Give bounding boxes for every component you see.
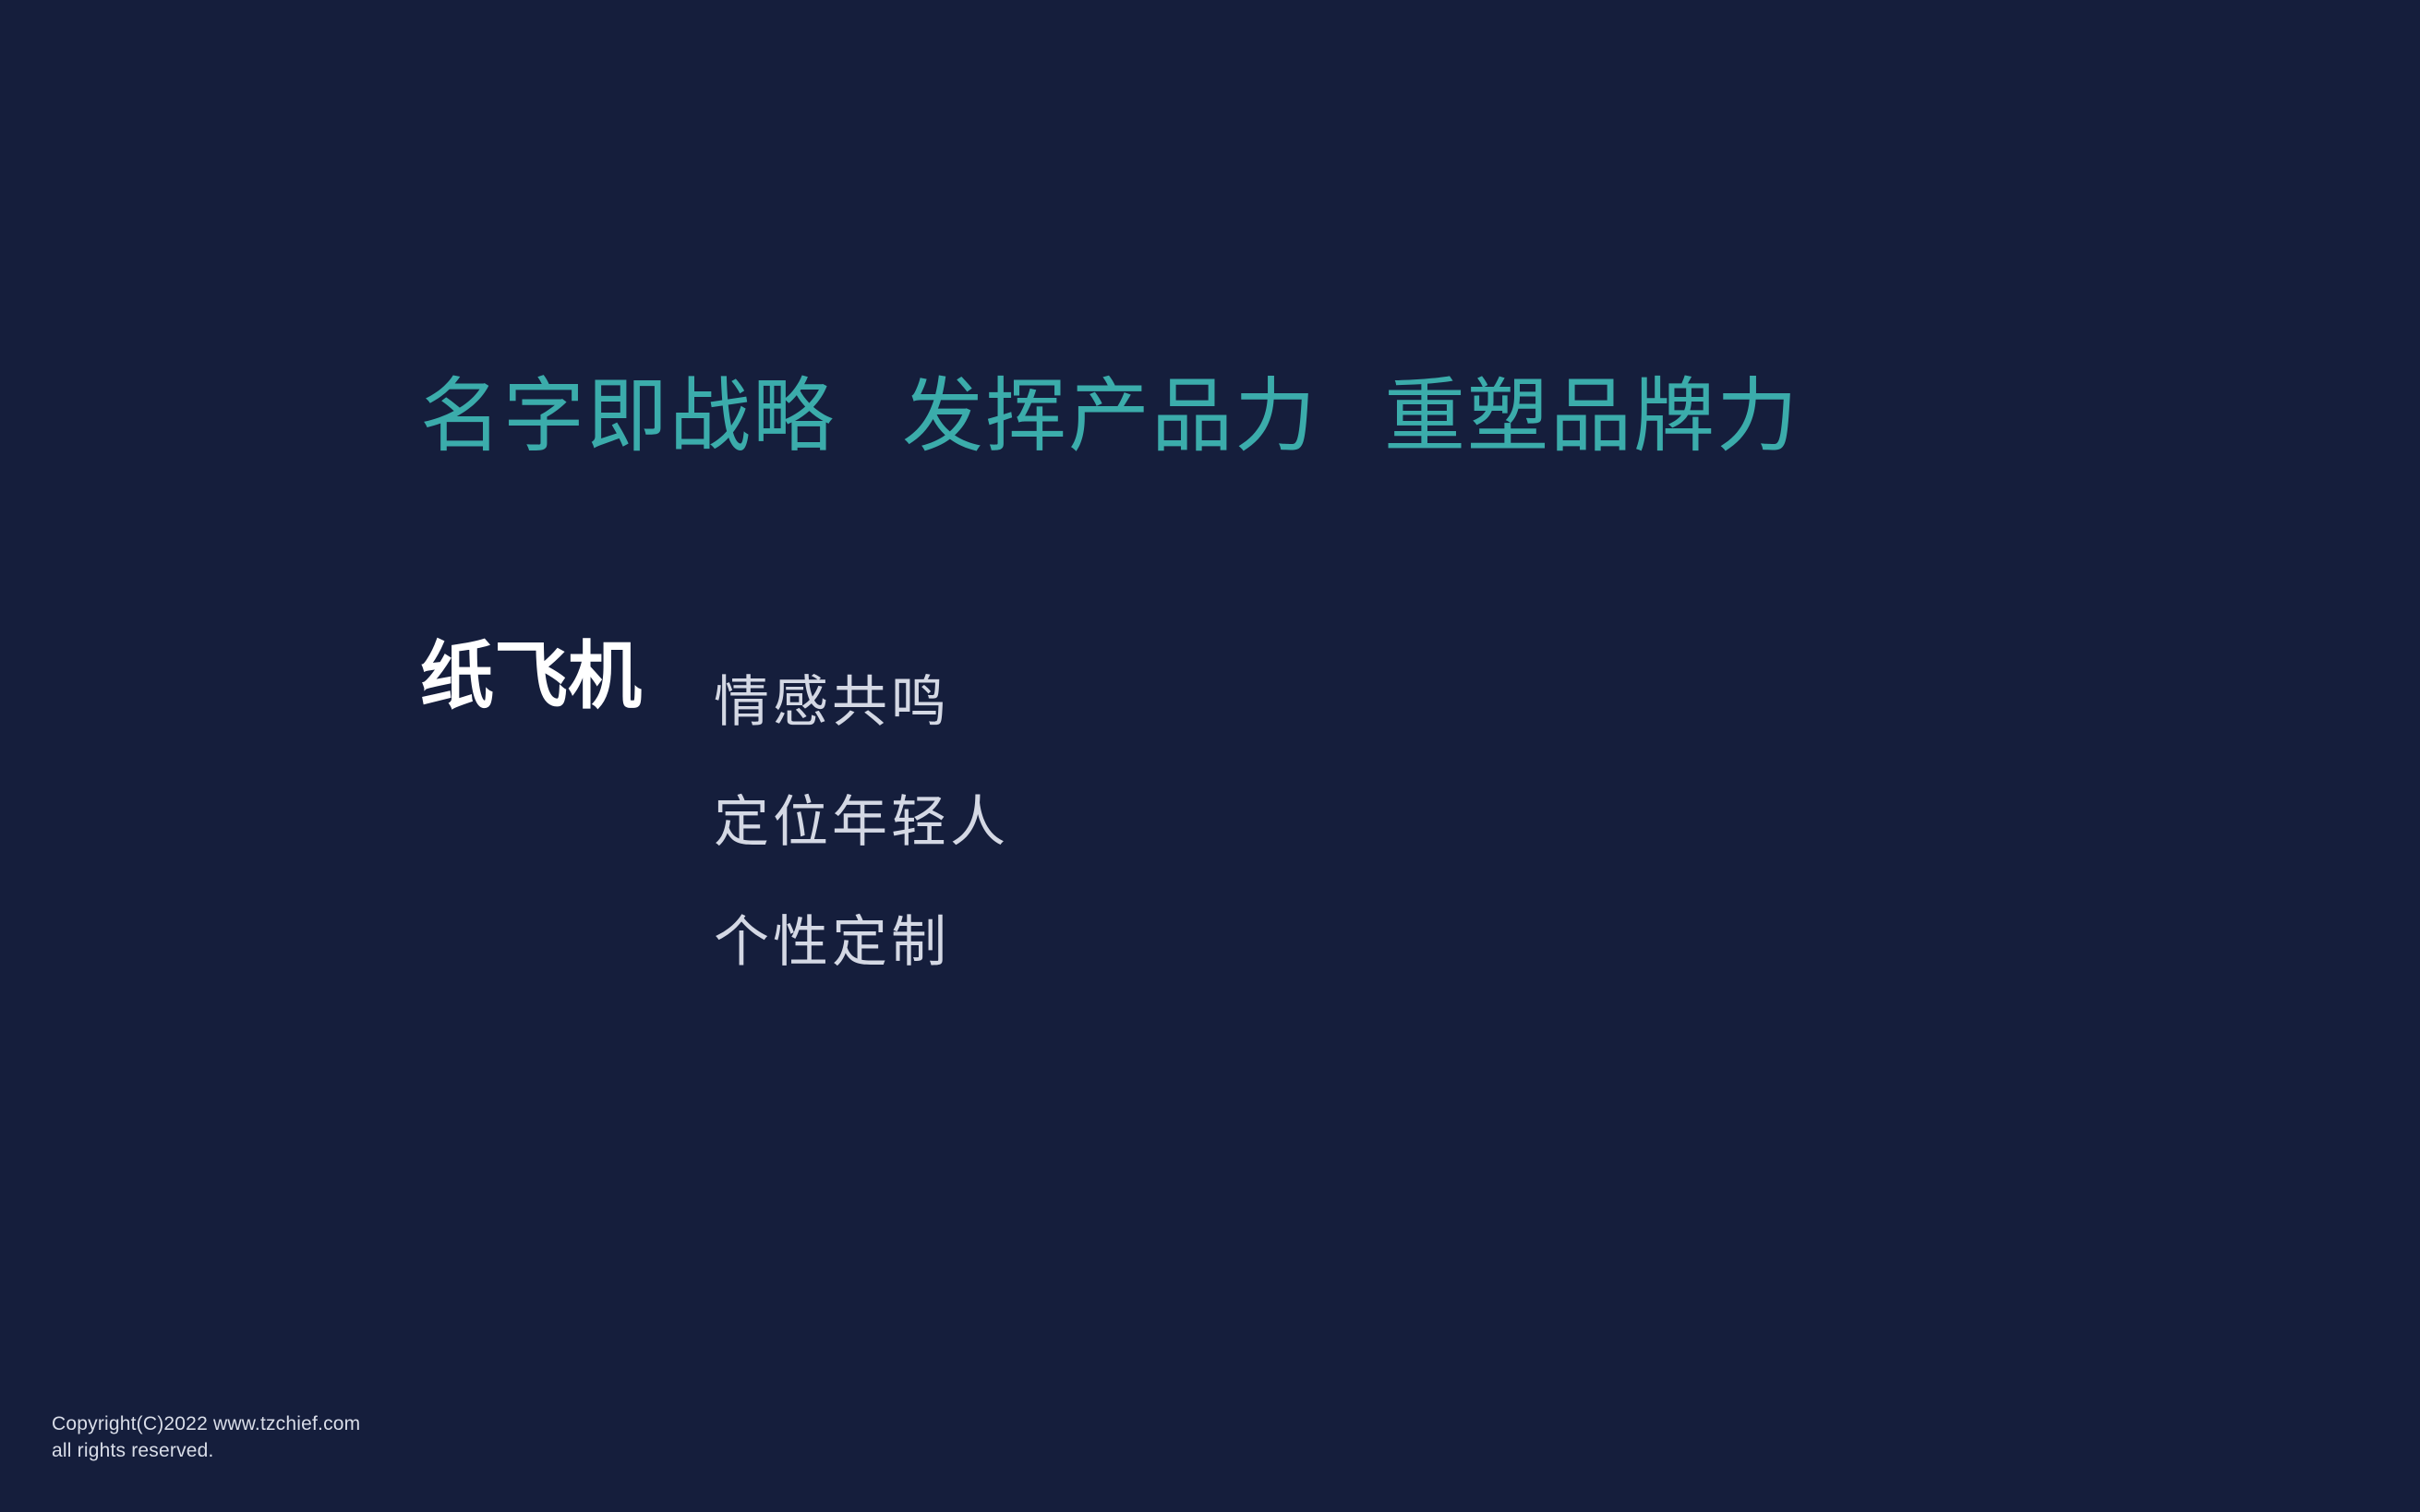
headline-phrase-2: 发挥产品力 — [902, 369, 1318, 462]
headline-phrase-1: 名字即战略 — [420, 369, 836, 462]
brand-attribute-item: 情感共鸣 — [714, 642, 1009, 762]
footer-line: Copyright(C)2022 www.tzchief.com — [52, 1410, 360, 1437]
headline: 名字即战略发挥产品力重塑品牌力 — [420, 369, 2174, 462]
brand-attribute-item: 定位年轻人 — [714, 762, 1009, 882]
headline-phrase-3: 重塑品牌力 — [1384, 369, 1800, 462]
brand-attribute-item: 个性定制 — [714, 882, 1009, 1002]
slide-canvas: 名字即战略发挥产品力重塑品牌力 纸飞机 情感共鸣 定位年轻人 个性定制 Copy… — [0, 0, 2420, 1512]
footer-copyright: Copyright(C)2022 www.tzchief.com all rig… — [52, 1410, 360, 1464]
brand-name: 纸飞机 — [420, 637, 642, 716]
footer-line: all rights reserved. — [52, 1437, 360, 1464]
brand-attribute-list: 情感共鸣 定位年轻人 个性定制 — [714, 637, 1009, 1002]
brand-block: 纸飞机 情感共鸣 定位年轻人 个性定制 — [420, 637, 1009, 1002]
